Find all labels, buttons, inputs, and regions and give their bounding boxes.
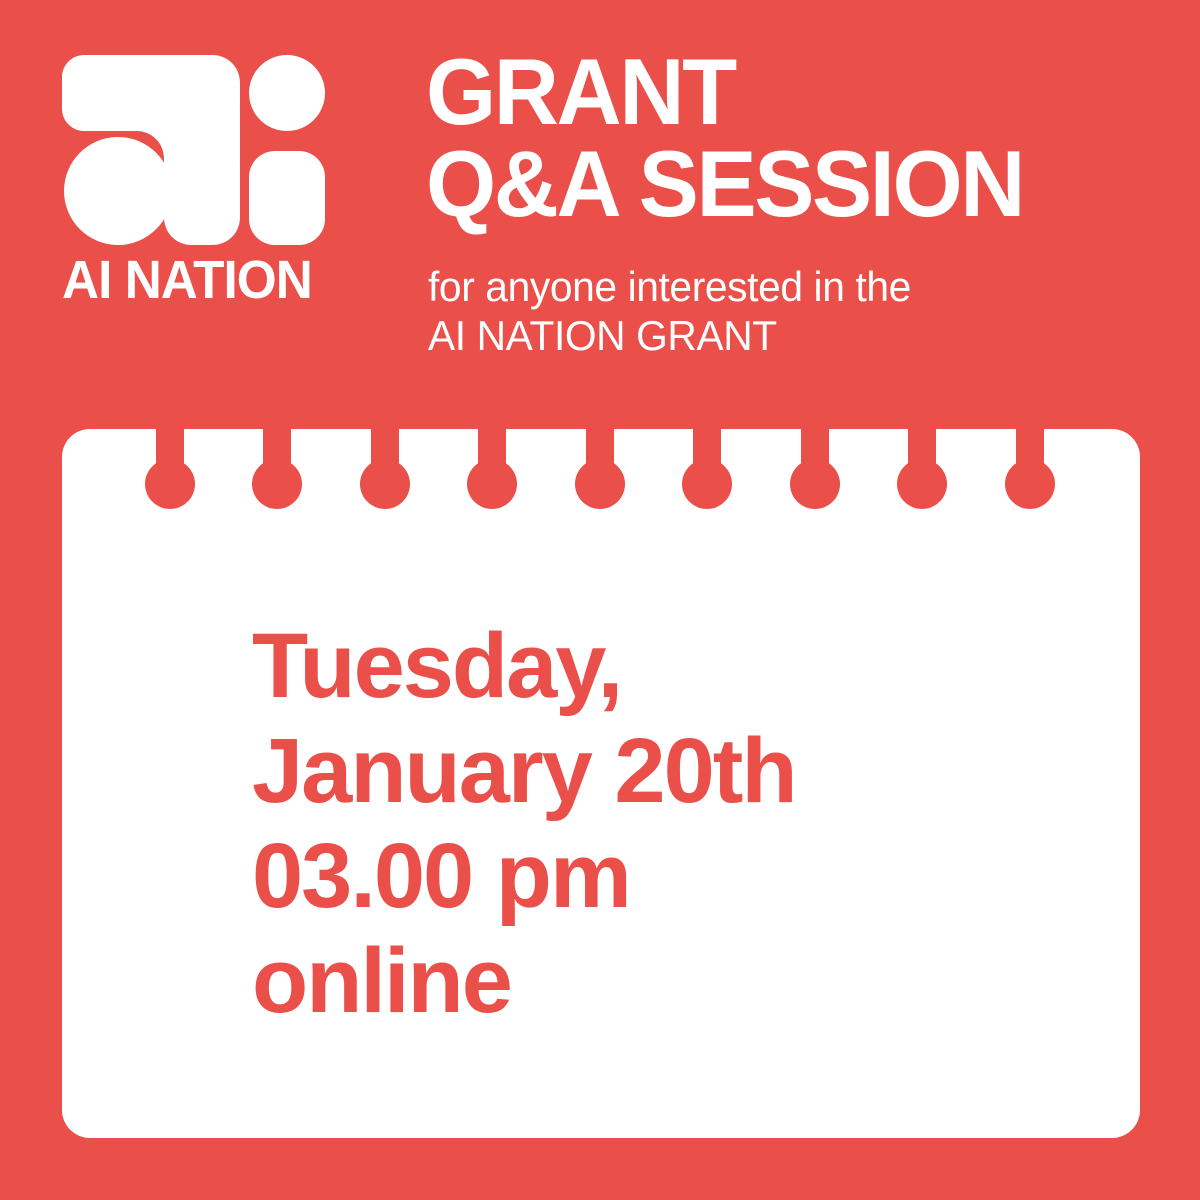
event-date: January 20th <box>252 719 1072 824</box>
calendar-card: Tuesday, January 20th 03.00 pm online <box>62 429 1140 1138</box>
brand-logo: AI NATION <box>62 55 327 305</box>
poster-canvas: AI NATION GRANT Q&A SESSION for anyone i… <box>0 0 1200 1200</box>
event-details: Tuesday, January 20th 03.00 pm online <box>252 614 1072 1034</box>
subheadline-line-1: for anyone interested in the <box>428 262 1126 311</box>
binder-rings <box>62 429 1140 519</box>
subheadline-line-2: AI NATION GRANT <box>428 311 1126 360</box>
event-day-of-week: Tuesday, <box>252 614 1072 719</box>
headline-line-1: GRANT <box>426 46 1098 138</box>
poster-header: AI NATION GRANT Q&A SESSION for anyone i… <box>0 0 1200 420</box>
ai-nation-logo-mark-icon <box>62 55 327 245</box>
brand-wordmark: AI NATION <box>62 251 312 309</box>
headline-line-2: Q&A SESSION <box>426 138 1098 230</box>
headline: GRANT Q&A SESSION <box>426 46 1126 230</box>
event-location: online <box>252 929 1072 1034</box>
subheadline: for anyone interested in the AI NATION G… <box>428 262 1148 360</box>
event-time: 03.00 pm <box>252 824 1072 929</box>
